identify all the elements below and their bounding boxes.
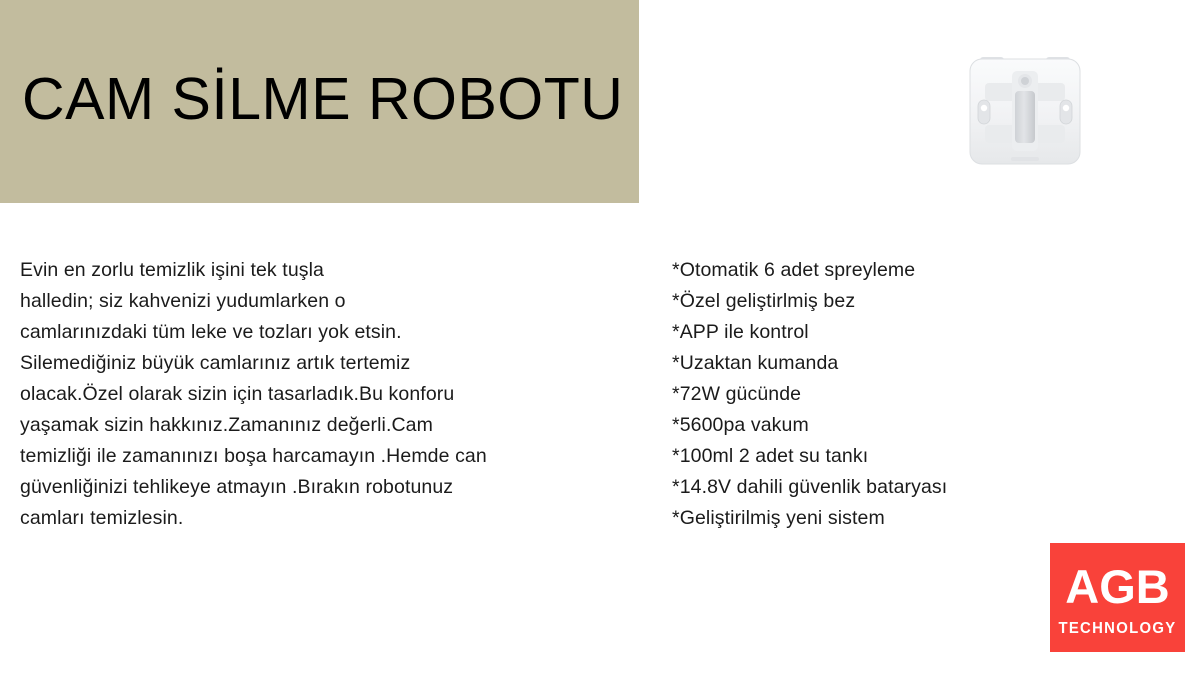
page-title: CAM SİLME ROBOTU [22, 69, 623, 131]
description-line: camlarınızdaki tüm leke ve tozları yok e… [20, 317, 630, 348]
description-line: camları temizlesin. [20, 503, 630, 534]
description-line: temizliği ile zamanınızı boşa harcamayın… [20, 441, 630, 472]
list-item: *Otomatik 6 adet spreyleme [672, 255, 1172, 286]
list-item: *100ml 2 adet su tankı [672, 441, 1172, 472]
description-line: Evin en zorlu temizlik işini tek tuşla [20, 255, 630, 286]
title-banner: CAM SİLME ROBOTU [0, 0, 639, 203]
list-item: *72W gücünde [672, 379, 1172, 410]
brand-logo-name: AGB [1065, 563, 1169, 610]
list-item: *Geliştirilmiş yeni sistem [672, 503, 1172, 534]
list-item: *14.8V dahili güvenlik bataryası [672, 472, 1172, 503]
list-item: *APP ile kontrol [672, 317, 1172, 348]
brand-logo-tagline: TECHNOLOGY [1058, 621, 1176, 637]
list-item: *Uzaktan kumanda [672, 348, 1172, 379]
window-cleaning-robot-image [963, 53, 1087, 170]
list-item: *5600pa vakum [672, 410, 1172, 441]
brand-logo: AGB TECHNOLOGY [1050, 543, 1185, 652]
description-line: güvenliğinizi tehlikeye atmayın .Bırakın… [20, 472, 630, 503]
list-item: *Özel geliştirlmiş bez [672, 286, 1172, 317]
feature-list: *Otomatik 6 adet spreyleme *Özel gelişti… [672, 255, 1172, 534]
description-line: Silemediğiniz büyük camlarınız artık ter… [20, 348, 630, 379]
description-line: yaşamak sizin hakkınız.Zamanınız değerli… [20, 410, 630, 441]
product-description: Evin en zorlu temizlik işini tek tuşla h… [20, 255, 630, 534]
description-line: halledin; siz kahvenizi yudumlarken o [20, 286, 630, 317]
description-line: olacak.Özel olarak sizin için tasarladık… [20, 379, 630, 410]
